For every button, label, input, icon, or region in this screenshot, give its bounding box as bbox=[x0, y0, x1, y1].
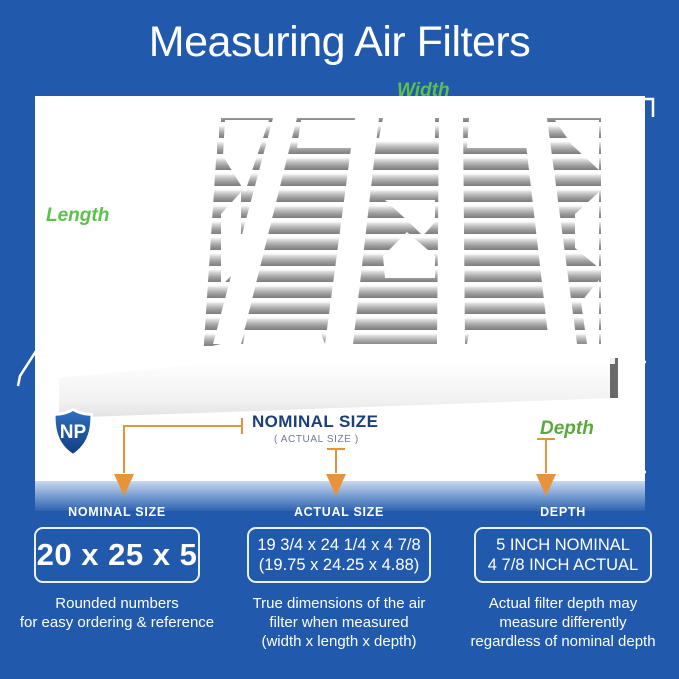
length-bracket bbox=[12, 98, 222, 388]
column-heading: ACTUAL SIZE bbox=[226, 505, 452, 519]
column-value-lines: 19 3/4 x 24 1/4 x 4 7/8 (19.75 x 24.25 x… bbox=[257, 535, 420, 575]
depth-label: Depth bbox=[540, 418, 594, 440]
logo-text: NP bbox=[60, 422, 87, 443]
caption-line-1: Actual filter depth may bbox=[450, 594, 676, 613]
column-actual-size: ACTUAL SIZE 19 3/4 x 24 1/4 x 4 7/8 (19.… bbox=[226, 505, 452, 651]
caption-line-3: (width x length x depth) bbox=[226, 632, 452, 651]
caption-line-1: Rounded numbers bbox=[4, 594, 230, 613]
callout-line-right-vertical bbox=[545, 438, 547, 473]
caption-line-3: regardless of nominal depth bbox=[450, 632, 676, 651]
callout-line-left-vertical bbox=[123, 425, 125, 473]
callout-subtitle: ( ACTUAL SIZE ) bbox=[274, 434, 359, 445]
column-caption: True dimensions of the air filter when m… bbox=[226, 594, 452, 651]
callout-line-horizontal bbox=[123, 425, 243, 427]
column-value: 20 x 25 x 5 bbox=[37, 537, 198, 573]
np-shield-logo: NP bbox=[50, 407, 96, 459]
column-value: 5 INCH NOMINAL bbox=[488, 535, 638, 555]
caption-line-2: for easy ordering & reference bbox=[4, 613, 230, 632]
column-nominal-size: NOMINAL SIZE 20 x 25 x 5 Rounded numbers… bbox=[4, 505, 230, 632]
column-value: 19 3/4 x 24 1/4 x 4 7/8 bbox=[257, 535, 420, 555]
column-value-box: 19 3/4 x 24 1/4 x 4 7/8 (19.75 x 24.25 x… bbox=[247, 527, 431, 583]
length-label: Length bbox=[46, 205, 109, 227]
callout-tick-left bbox=[241, 418, 243, 434]
callout-tick-right bbox=[537, 438, 555, 440]
column-value-lines: 5 INCH NOMINAL 4 7/8 INCH ACTUAL bbox=[488, 535, 638, 575]
column-heading: DEPTH bbox=[450, 505, 676, 519]
callout-tick-center bbox=[327, 448, 345, 450]
column-value-box: 20 x 25 x 5 bbox=[34, 527, 200, 583]
summary-columns: NOMINAL SIZE 20 x 25 x 5 Rounded numbers… bbox=[0, 505, 679, 679]
column-value-secondary: (19.75 x 24.25 x 4.88) bbox=[257, 555, 420, 575]
caption-line-1: True dimensions of the air bbox=[226, 594, 452, 613]
caption-line-2: measure differently bbox=[450, 613, 676, 632]
arrow-actual bbox=[326, 470, 346, 496]
column-value-box: 5 INCH NOMINAL 4 7/8 INCH ACTUAL bbox=[474, 527, 652, 583]
column-caption: Rounded numbers for easy ordering & refe… bbox=[4, 594, 230, 632]
page-title: Measuring Air Filters bbox=[0, 18, 679, 67]
depth-bracket bbox=[626, 358, 650, 478]
column-caption: Actual filter depth may measure differen… bbox=[450, 594, 676, 651]
column-heading: NOMINAL SIZE bbox=[4, 505, 230, 519]
width-label: Width bbox=[397, 80, 450, 102]
arrow-depth bbox=[536, 470, 556, 496]
caption-line-2: filter when measured bbox=[226, 613, 452, 632]
callout-title: NOMINAL SIZE bbox=[252, 412, 378, 432]
column-depth: DEPTH 5 INCH NOMINAL 4 7/8 INCH ACTUAL A… bbox=[450, 505, 676, 651]
arrow-nominal bbox=[114, 470, 134, 496]
column-value-secondary: 4 7/8 INCH ACTUAL bbox=[488, 555, 638, 575]
infographic-root: Measuring Air Filters bbox=[0, 0, 679, 679]
